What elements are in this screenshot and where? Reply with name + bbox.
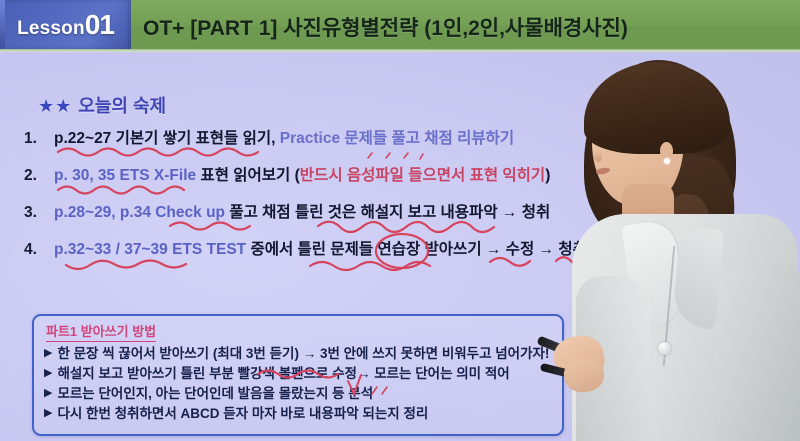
dictation-method-box: 파트1 받아쓰기 방법 ▶한 문장 씩 끊어서 받아쓰기 (최대 3번 듣기) … — [32, 314, 564, 436]
homework-item-text: 반드시 음성파일 들으면서 표현 익히기 — [300, 167, 545, 184]
presenter-fringe — [584, 62, 730, 154]
star-icon: ★★ — [38, 96, 72, 116]
homework-item-number: 2. — [24, 167, 54, 185]
dictation-method-line-text: 한 문장 씩 끊어서 받아쓰기 (최대 3번 듣기) → 3번 안에 쓰지 못하… — [57, 342, 549, 362]
lesson-badge-word: Lesson — [17, 18, 85, 39]
presenter-figure — [518, 46, 800, 441]
homework-item-text: p. 30, 35 ETS X-File — [54, 167, 196, 184]
presenter-right-arm — [714, 262, 800, 441]
homework-item-number: 3. — [24, 204, 54, 222]
section-heading-label: 오늘의 숙제 — [78, 96, 166, 116]
homework-item-text: p.28~29, p.34 Check up — [54, 204, 225, 221]
homework-item-number: 4. — [24, 241, 54, 259]
triangle-bullet-icon: ▶ — [44, 406, 52, 419]
dictation-method-line-text: 다시 한번 청취하면서 ABCD 듣자 마자 바로 내용파악 되는지 정리 — [57, 402, 428, 422]
dictation-method-line: ▶다시 한번 청취하면서 ABCD 듣자 마자 바로 내용파악 되는지 정리 — [44, 402, 556, 422]
triangle-bullet-icon: ▶ — [44, 386, 52, 399]
section-heading: ★★오늘의 숙제 — [38, 92, 166, 118]
dictation-method-lines: ▶한 문장 씩 끊어서 받아쓰기 (최대 3번 듣기) → 3번 안에 쓰지 못… — [44, 342, 556, 422]
triangle-bullet-icon: ▶ — [44, 366, 52, 379]
homework-item-text: Practice 문제들 풀고 채점 리뷰하기 — [275, 130, 514, 147]
page-title: OT+ [PART 1] 사진유형별전략 (1인,2인,사물배경사진) — [143, 12, 628, 42]
dictation-method-line-text: 해설지 보고 받아쓰기 틀린 부분 빨강색 볼펜으로 수정→ 모르는 단어는 의… — [57, 362, 509, 382]
homework-item-text: 표현 읽어보기 ( — [196, 167, 300, 184]
lesson-badge: Lesson01 — [0, 0, 131, 49]
dictation-method-line-text: 모르는 단어인지, 아는 단어인데 발음을 몰랐는지 등 분석 — [57, 382, 373, 402]
lesson-badge-number: 01 — [85, 9, 114, 40]
presenter-jacket-button — [658, 342, 671, 355]
dictation-method-line: ▶한 문장 씩 끊어서 받아쓰기 (최대 3번 듣기) → 3번 안에 쓰지 못… — [44, 342, 556, 362]
header-bar: Lesson01 OT+ [PART 1] 사진유형별전략 (1인,2인,사물배… — [0, 0, 800, 52]
lesson-badge-text: Lesson01 — [17, 11, 114, 39]
homework-item-text: 풀고 채점 틀린 것은 해설지 보고 내용파악 → 청취 — [225, 204, 550, 221]
dictation-method-title: 파트1 받아쓰기 방법 — [46, 321, 156, 342]
homework-item-text: p.22~27 기본기 쌓기 표현들 읽기, — [54, 130, 275, 147]
presenter-earring — [664, 158, 670, 164]
dictation-method-line: ▶해설지 보고 받아쓰기 틀린 부분 빨강색 볼펜으로 수정→ 모르는 단어는 … — [44, 362, 556, 382]
homework-item-number: 1. — [24, 130, 54, 148]
dictation-method-line: ▶모르는 단어인지, 아는 단어인데 발음을 몰랐는지 등 분석 — [44, 382, 556, 402]
triangle-bullet-icon: ▶ — [44, 346, 52, 359]
lecture-slide-screen: Lesson01 OT+ [PART 1] 사진유형별전략 (1인,2인,사물배… — [0, 0, 800, 441]
homework-item-text: p.32~33 / 37~39 ETS TEST — [54, 241, 246, 258]
